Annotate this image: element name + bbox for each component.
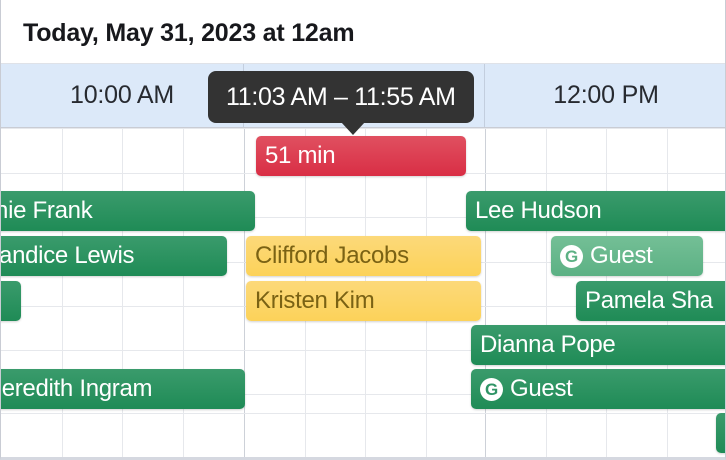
event-chip[interactable]: 51 min bbox=[256, 136, 466, 176]
event-chip[interactable]: Dianna Pope bbox=[471, 325, 726, 365]
event-chip-label: Kristen Kim bbox=[255, 287, 374, 315]
event-chip[interactable]: Kristen Kim bbox=[246, 281, 481, 321]
event-chip[interactable] bbox=[716, 413, 726, 453]
grid-row-line bbox=[1, 457, 726, 458]
tooltip-arrow-icon bbox=[341, 122, 365, 135]
guest-icon: G bbox=[480, 378, 503, 401]
event-chip[interactable]: nnie Frank bbox=[0, 191, 255, 231]
time-axis-hour-2[interactable]: 12:00 PM bbox=[485, 64, 726, 127]
event-chip-label: Meredith Ingram bbox=[0, 375, 152, 403]
guest-icon: G bbox=[560, 245, 583, 268]
event-chip[interactable]: n bbox=[0, 281, 21, 321]
event-chip[interactable]: Candice Lewis bbox=[0, 236, 227, 276]
event-chip[interactable]: Meredith Ingram bbox=[0, 369, 245, 409]
event-chip-label: Pamela Sha bbox=[585, 287, 713, 315]
event-chip[interactable]: Pamela Sha bbox=[576, 281, 726, 321]
event-chip-label: Candice Lewis bbox=[0, 242, 134, 270]
event-chip[interactable]: GGuest bbox=[471, 369, 726, 409]
grid-row-line bbox=[1, 413, 726, 414]
time-axis-hour-label: 10:00 AM bbox=[70, 81, 174, 110]
event-chip-label: 51 min bbox=[265, 142, 335, 170]
tooltip-label: 11:03 AM – 11:55 AM bbox=[226, 83, 456, 112]
event-chip[interactable]: GGuest bbox=[551, 236, 703, 276]
event-chip-label: Guest bbox=[590, 242, 653, 270]
page-title: Today, May 31, 2023 at 12am bbox=[23, 19, 354, 48]
calendar-header: Today, May 31, 2023 at 12am bbox=[1, 0, 726, 64]
event-chip[interactable]: Clifford Jacobs bbox=[246, 236, 481, 276]
calendar-day-view: Today, May 31, 2023 at 12am 10:00 AM11:0… bbox=[0, 0, 726, 460]
event-chip[interactable]: Lee Hudson bbox=[466, 191, 726, 231]
event-chip-label: Clifford Jacobs bbox=[255, 242, 409, 270]
grid-hour-line bbox=[244, 128, 245, 457]
event-chip-label: nnie Frank bbox=[0, 197, 92, 225]
time-range-tooltip: 11:03 AM – 11:55 AM bbox=[208, 71, 474, 123]
time-axis-hour-label: 12:00 PM bbox=[553, 81, 658, 110]
event-chip-label: Lee Hudson bbox=[475, 197, 601, 225]
event-chip-label: Dianna Pope bbox=[480, 331, 615, 359]
event-chip-label: Guest bbox=[510, 375, 573, 403]
